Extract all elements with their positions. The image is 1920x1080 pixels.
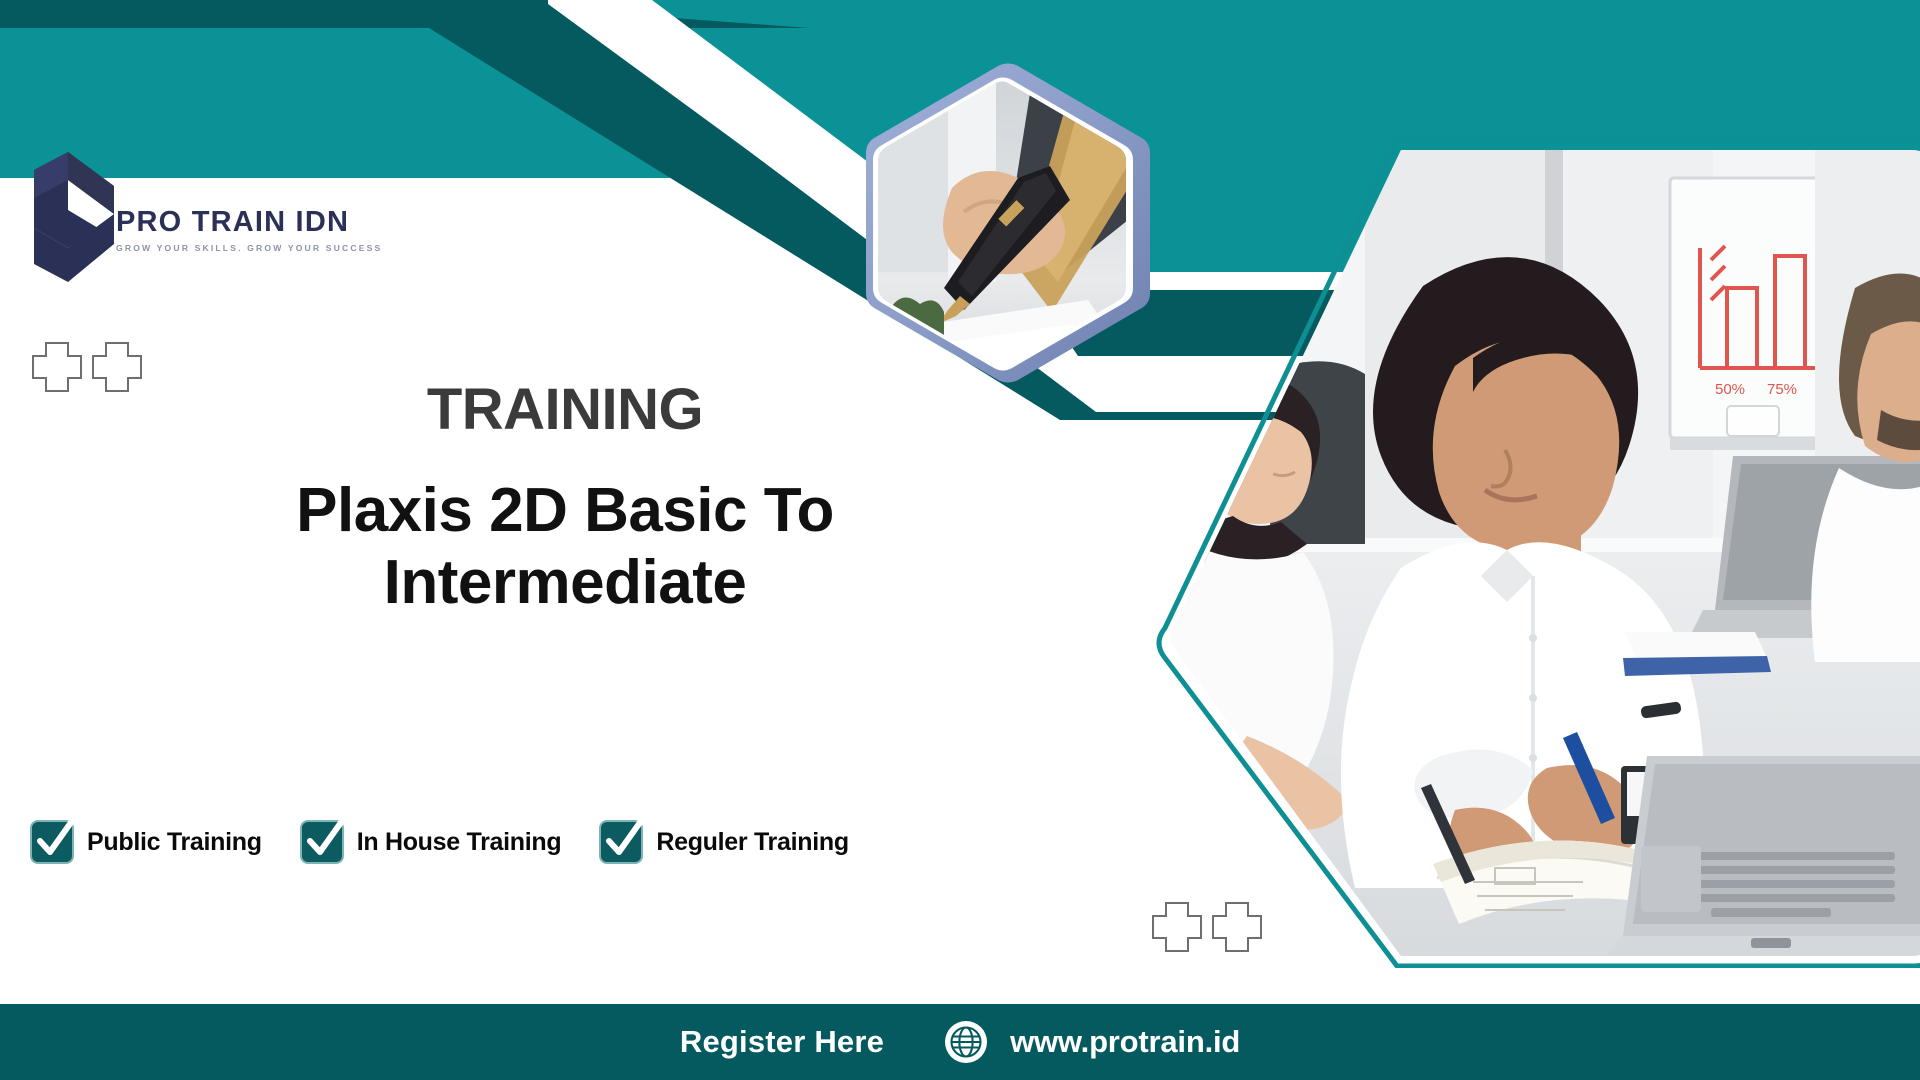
- poster-canvas: PRO TRAIN IDN GROW YOUR SKILLS. GROW YOU…: [0, 0, 1920, 1080]
- website-group[interactable]: www.protrain.id: [944, 1020, 1240, 1064]
- page-title: Plaxis 2D Basic To Intermediate: [150, 475, 980, 619]
- hexagon-photo-training-classroom: 50% 75% 92%: [1155, 138, 1920, 968]
- feature-reguler-training[interactable]: Reguler Training: [599, 820, 848, 864]
- checkmark-icon: [300, 816, 348, 864]
- svg-text:75%: 75%: [1767, 381, 1797, 398]
- logo-title: PRO TRAIN IDN: [116, 208, 416, 237]
- checkbox-checked-icon[interactable]: [30, 820, 74, 864]
- feature-label: In House Training: [357, 828, 562, 857]
- footer-bar: Register Here www.protrain.id: [0, 1004, 1920, 1080]
- hexagon-photo-pen-writing: [838, 62, 1178, 457]
- x-decoration-group-left: [30, 340, 144, 394]
- feature-label: Reguler Training: [656, 828, 848, 857]
- logo-tagline: GROW YOUR SKILLS. GROW YOUR SUCCESS: [116, 243, 416, 253]
- protrain-arrow-logo-icon: [28, 152, 120, 282]
- checkmark-icon: [30, 816, 78, 864]
- checkbox-checked-icon[interactable]: [300, 820, 344, 864]
- brand-logo[interactable]: PRO TRAIN IDN GROW YOUR SKILLS. GROW YOU…: [28, 152, 408, 302]
- checkbox-checked-icon[interactable]: [599, 820, 643, 864]
- feature-in-house-training[interactable]: In House Training: [300, 820, 562, 864]
- website-url[interactable]: www.protrain.id: [1010, 1024, 1240, 1060]
- feature-public-training[interactable]: Public Training: [30, 820, 262, 864]
- x-cross-outline-icon: [30, 340, 84, 394]
- logo-wordmark: PRO TRAIN IDN GROW YOUR SKILLS. GROW YOU…: [116, 208, 416, 253]
- globe-icon: [944, 1020, 988, 1064]
- x-cross-outline-icon: [90, 340, 144, 394]
- training-type-list: Public Training In House Training Regule…: [30, 820, 849, 864]
- svg-text:50%: 50%: [1715, 381, 1745, 398]
- checkmark-icon: [599, 816, 647, 864]
- register-here-label[interactable]: Register Here: [680, 1024, 884, 1060]
- feature-label: Public Training: [87, 828, 262, 857]
